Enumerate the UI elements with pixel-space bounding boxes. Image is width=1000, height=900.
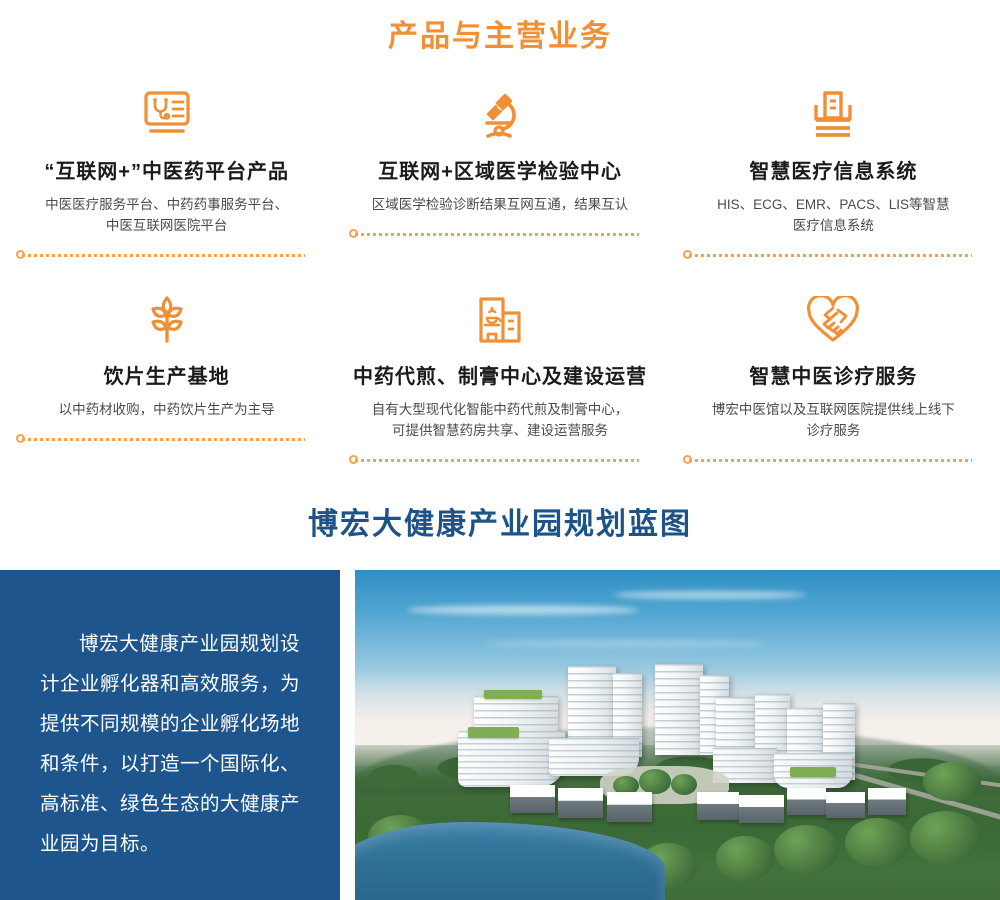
products-grid-row-2: 饮片生产基地 以中药材收购，中药饮片生产为主导 (0, 283, 1000, 466)
rendering-green-roof (790, 767, 835, 776)
blueprint-content: 博宏大健康产业园规划设计企业孵化器和高效服务，为提供不同规模的企业孵化场地和条件… (0, 570, 1000, 900)
rendering-villa (607, 792, 652, 822)
rendering-bush (923, 762, 981, 801)
rendering-villa (787, 788, 826, 814)
card-divider (14, 433, 319, 445)
rendering-villa (697, 792, 739, 820)
products-section-title: 产品与主营业务 (0, 0, 1000, 52)
product-card-title: 中药代煎、制膏中心及建设运营 (347, 365, 652, 389)
product-card-title: 饮片生产基地 (14, 365, 319, 389)
card-divider (347, 454, 652, 466)
rendering-villa (739, 795, 784, 823)
rendering-bush (910, 811, 981, 864)
divider-dots (355, 233, 638, 236)
blueprint-section: 博宏大健康产业园规划蓝图 博宏大健康产业园规划设计企业孵化器和高效服务，为提供不… (0, 510, 1000, 900)
product-card-desc: HIS、ECG、EMR、PACS、LIS等智慧医疗信息系统 (681, 195, 986, 237)
rendering-villa (510, 785, 555, 813)
cloud-streak (484, 640, 768, 647)
product-card-desc: 博宏中医馆以及互联网医院提供线上线下诊疗服务 (681, 400, 986, 442)
blueprint-paragraph: 博宏大健康产业园规划设计企业孵化器和高效服务，为提供不同规模的企业孵化场地和条件… (40, 625, 300, 865)
product-card-internet-plus-tcm[interactable]: “互联网+”中医药平台产品 中医医疗服务平台、中药药事服务平台、中医互联网医院平… (0, 78, 333, 261)
product-card-smart-medical-info-system[interactable]: 智慧医疗信息系统 HIS、ECG、EMR、PACS、LIS等智慧医疗信息系统 (667, 78, 1000, 261)
rendering-bush (639, 769, 671, 794)
divider-dots (689, 254, 972, 257)
rendering-tower (655, 664, 703, 755)
wheat-herb-icon (14, 289, 319, 351)
rendering-villa (826, 792, 865, 818)
product-card-title: 智慧中医诊疗服务 (681, 365, 986, 389)
rendering-villa (558, 788, 603, 818)
heart-handshake-icon (681, 289, 986, 351)
card-divider (681, 249, 986, 261)
card-divider (681, 454, 986, 466)
products-grid-row-1: “互联网+”中医药平台产品 中医医疗服务平台、中药药事服务平台、中医互联网医院平… (0, 78, 1000, 261)
product-card-decoction-paste-center[interactable]: 中药代煎、制膏中心及建设运营 自有大型现代化智能中药代煎及制膏中心，可提供智慧药… (333, 283, 666, 466)
microscope-icon (347, 84, 652, 146)
rendering-bush (845, 818, 910, 867)
product-card-desc: 自有大型现代化智能中药代煎及制膏中心，可提供智慧药房共享、建设运营服务 (347, 400, 652, 442)
hospital-building-icon (681, 84, 986, 146)
divider-dots (22, 254, 305, 257)
product-card-desc: 中医医疗服务平台、中药药事服务平台、中医互联网医院平台 (14, 195, 319, 237)
divider-dots (689, 459, 972, 462)
product-card-regional-lab-center[interactable]: 互联网+区域医学检验中心 区域医学检验诊断结果互网互通，结果互认 (333, 78, 666, 261)
medical-record-monitor-icon (14, 84, 319, 146)
divider-dots (22, 438, 305, 441)
product-card-desc: 以中药材收购，中药饮片生产为主导 (14, 400, 319, 421)
landing-page: 产品与主营业务 (0, 0, 1000, 900)
blueprint-text-panel: 博宏大健康产业园规划设计企业孵化器和高效服务，为提供不同规模的企业孵化场地和条件… (0, 570, 340, 900)
rendering-green-roof (484, 690, 542, 698)
products-section: 产品与主营业务 (0, 0, 1000, 466)
product-card-title: “互联网+”中医药平台产品 (14, 160, 319, 184)
rendering-bush (774, 825, 839, 874)
rendering-green-roof (468, 727, 520, 738)
product-card-desc: 区域医学检验诊断结果互网互通，结果互认 (347, 195, 652, 216)
cloud-streak (613, 591, 807, 599)
rendering-villa (868, 788, 907, 814)
industrial-park-rendering-image (355, 570, 1000, 900)
blueprint-section-title: 博宏大健康产业园规划蓝图 (0, 510, 1000, 540)
product-card-smart-tcm-clinic-service[interactable]: 智慧中医诊疗服务 博宏中医馆以及互联网医院提供线上线下诊疗服务 (667, 283, 1000, 466)
factory-teapot-icon (347, 289, 652, 351)
divider-dots (355, 459, 638, 462)
cloud-streak (407, 605, 639, 615)
card-divider (14, 249, 319, 261)
product-card-title: 互联网+区域医学检验中心 (347, 160, 652, 184)
product-card-decoction-pieces-base[interactable]: 饮片生产基地 以中药材收购，中药饮片生产为主导 (0, 283, 333, 466)
card-divider (347, 228, 652, 240)
product-card-title: 智慧医疗信息系统 (681, 160, 986, 184)
rendering-bush (716, 836, 774, 882)
